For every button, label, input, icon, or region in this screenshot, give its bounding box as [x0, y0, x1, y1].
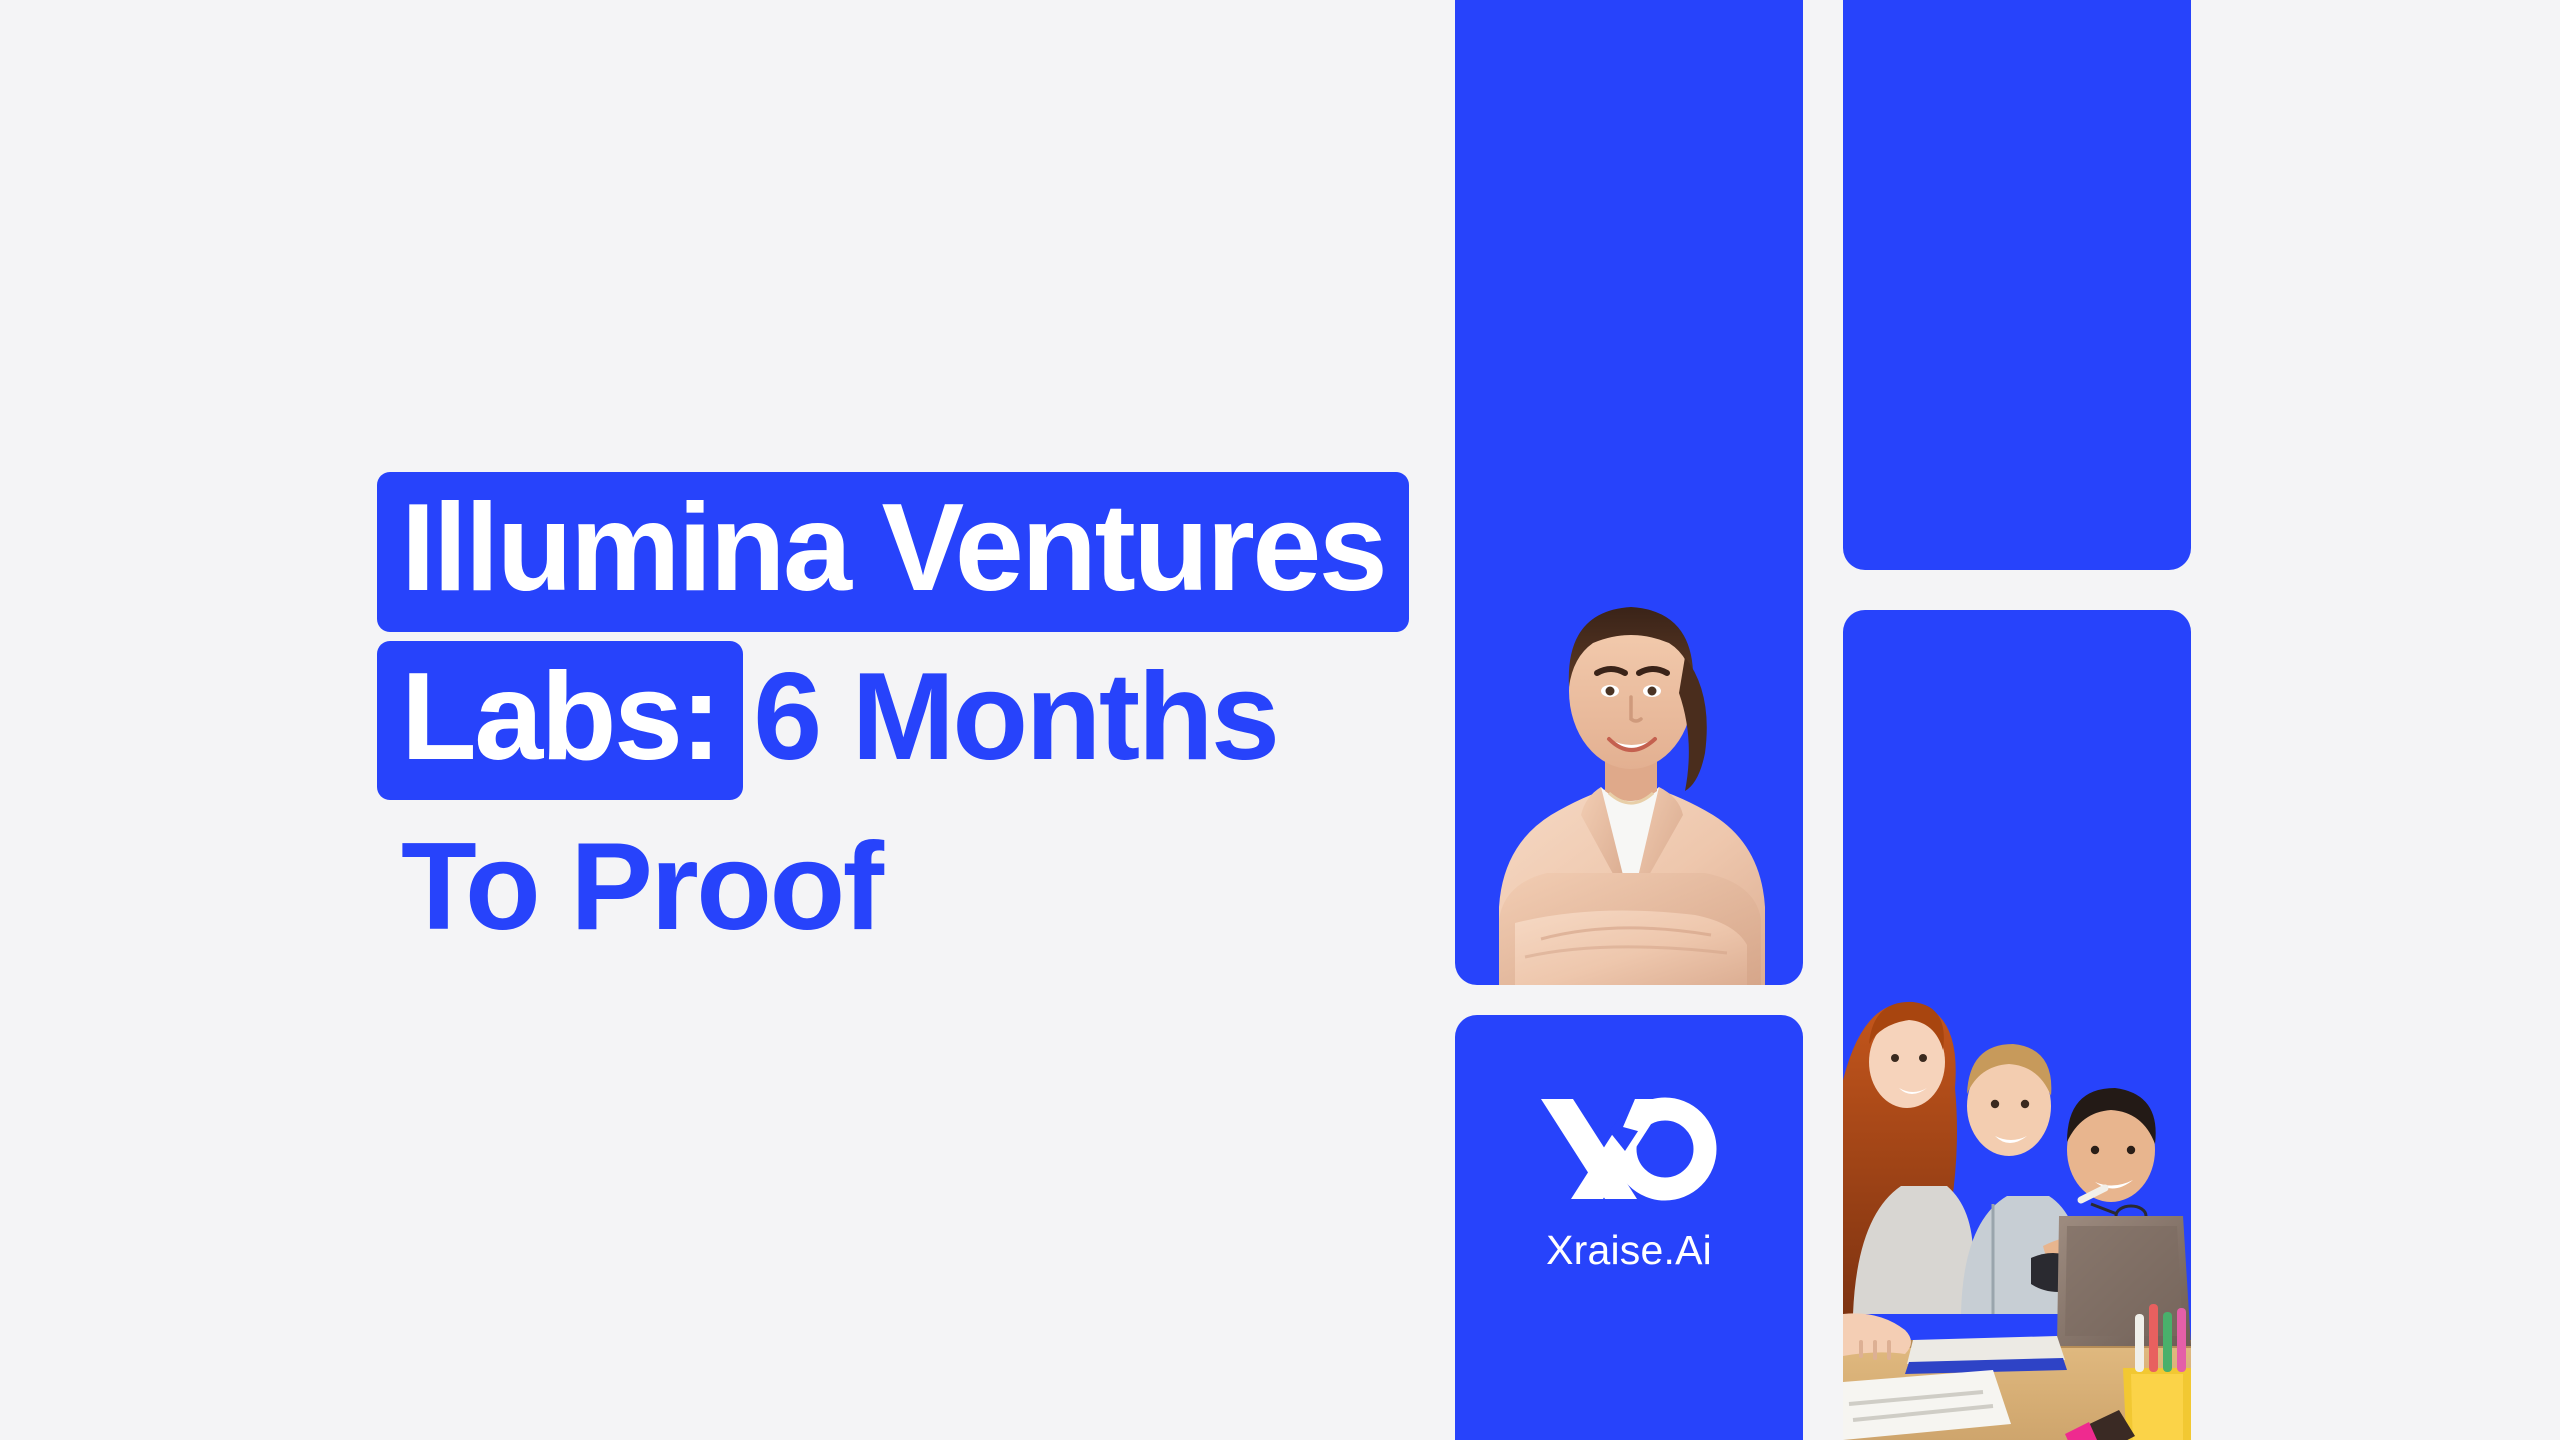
- xo-logo-mark: [1539, 1093, 1719, 1205]
- logo-panel: Xraise.Ai: [1455, 1015, 1803, 1440]
- headline-highlight-2: Labs:: [377, 641, 743, 801]
- headline-highlight-1: Illumina Ventures: [377, 472, 1409, 632]
- media-columns: Xraise.Ai: [1455, 0, 2190, 1440]
- page-title: Illumina Ventures Labs:6 Months To Proof: [377, 472, 1457, 971]
- team-panel: [1843, 610, 2191, 1440]
- slide-canvas: Illumina Ventures Labs:6 Months To Proof: [0, 0, 2560, 1440]
- blank-accent-panel: [1843, 0, 2191, 570]
- headline-line-3: To Proof: [377, 811, 1457, 971]
- media-column-1: Xraise.Ai: [1455, 0, 1803, 1440]
- brand-wordmark: Xraise.Ai: [1455, 1227, 1803, 1274]
- businesswoman-photo: [1455, 515, 1803, 985]
- media-column-2: [1843, 0, 2191, 1440]
- headline-line-2: Labs:6 Months: [377, 641, 1457, 801]
- portrait-panel: [1455, 0, 1803, 985]
- brand-lockup: Xraise.Ai: [1455, 1093, 1803, 1274]
- team-collaboration-photo: [1843, 844, 2191, 1440]
- headline-plain-2: 6 Months: [743, 641, 1277, 801]
- headline-line-1: Illumina Ventures: [377, 472, 1457, 632]
- headline-plain-3: To Proof: [377, 811, 881, 971]
